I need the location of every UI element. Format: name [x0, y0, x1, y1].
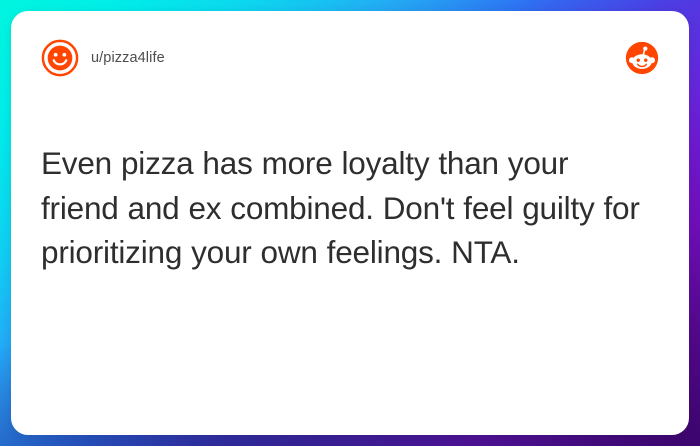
reddit-logo[interactable]	[625, 41, 659, 75]
reddit-snoo-logo-icon	[625, 41, 659, 75]
avatar[interactable]	[41, 39, 79, 77]
post-author[interactable]: u/pizza4life	[41, 39, 165, 77]
smiley-face-avatar-icon	[41, 39, 79, 77]
post-card: u/pizza4life Even pizza has more	[11, 11, 689, 435]
post-card-header: u/pizza4life	[41, 37, 659, 79]
author-username: u/pizza4life	[91, 50, 165, 66]
post-card-body: Even pizza has more loyalty than your fr…	[41, 79, 659, 409]
post-text: Even pizza has more loyalty than your fr…	[41, 141, 641, 275]
